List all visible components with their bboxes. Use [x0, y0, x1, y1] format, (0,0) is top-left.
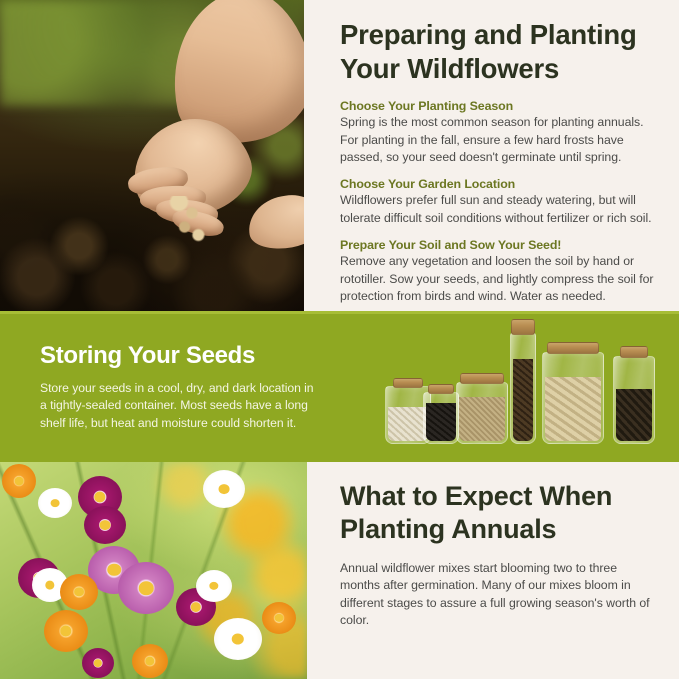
wildflower-cosmos-bouquet-image [0, 462, 307, 679]
what-to-expect-text-panel: What to Expect When Planting Annuals Ann… [312, 462, 679, 679]
cream-seed-jar [542, 352, 604, 444]
subheading-garden-location: Choose Your Garden Location [340, 177, 657, 191]
page-title: Preparing and Planting Your Wildflowers [340, 18, 657, 85]
white-cosmos-bloom [203, 470, 245, 508]
magenta-cosmos-bloom [82, 648, 114, 678]
block-prepare-soil: Prepare Your Soil and Sow Your Seed! Rem… [340, 238, 657, 305]
section-storing-your-seeds: Storing Your Seeds Store your seeds in a… [0, 311, 679, 462]
what-to-expect-body: Annual wildflower mixes start blooming t… [340, 560, 655, 630]
infographic-page: Preparing and Planting Your Wildflowers … [0, 0, 679, 679]
preparing-text-panel: Preparing and Planting Your Wildflowers … [310, 0, 679, 311]
body-planting-season: Spring is the most common season for pla… [340, 114, 657, 166]
dark-seed-bottle [613, 356, 655, 444]
orange-cosmos-bloom [2, 464, 36, 498]
body-prepare-soil: Remove any vegetation and loosen the soi… [340, 253, 657, 305]
brown-seed-vial [510, 332, 536, 444]
orange-cosmos-bloom [60, 574, 98, 610]
subheading-prepare-soil: Prepare Your Soil and Sow Your Seed! [340, 238, 657, 252]
magenta-cosmos-bloom [84, 506, 126, 544]
pink-cosmos-bloom [118, 562, 174, 614]
tan-seed-jar [456, 382, 508, 444]
section-preparing-and-planting: Preparing and Planting Your Wildflowers … [0, 0, 679, 311]
hands-sowing-seeds-in-soil-image [0, 0, 304, 311]
what-to-expect-heading: What to Expect When Planting Annuals [340, 480, 655, 546]
black-seed-jar [423, 392, 459, 444]
storing-text-block: Storing Your Seeds Store your seeds in a… [40, 342, 322, 432]
block-planting-season: Choose Your Planting Season Spring is th… [340, 99, 657, 166]
storing-body: Store your seeds in a cool, dry, and dar… [40, 380, 322, 432]
body-garden-location: Wildflowers prefer full sun and steady w… [340, 192, 657, 227]
falling-seeds [168, 196, 214, 246]
section-what-to-expect: What to Expect When Planting Annuals Ann… [0, 462, 679, 679]
orange-cosmos-bloom [132, 644, 168, 678]
orange-cosmos-bloom [262, 602, 296, 634]
white-cosmos-bloom [196, 570, 232, 602]
orange-cosmos-bloom [44, 610, 88, 652]
storing-heading: Storing Your Seeds [40, 342, 322, 370]
white-cosmos-bloom [214, 618, 262, 660]
white-cosmos-bloom [38, 488, 72, 518]
subheading-planting-season: Choose Your Planting Season [340, 99, 657, 113]
seed-storage-jars-image [385, 322, 670, 452]
block-garden-location: Choose Your Garden Location Wildflowers … [340, 177, 657, 227]
